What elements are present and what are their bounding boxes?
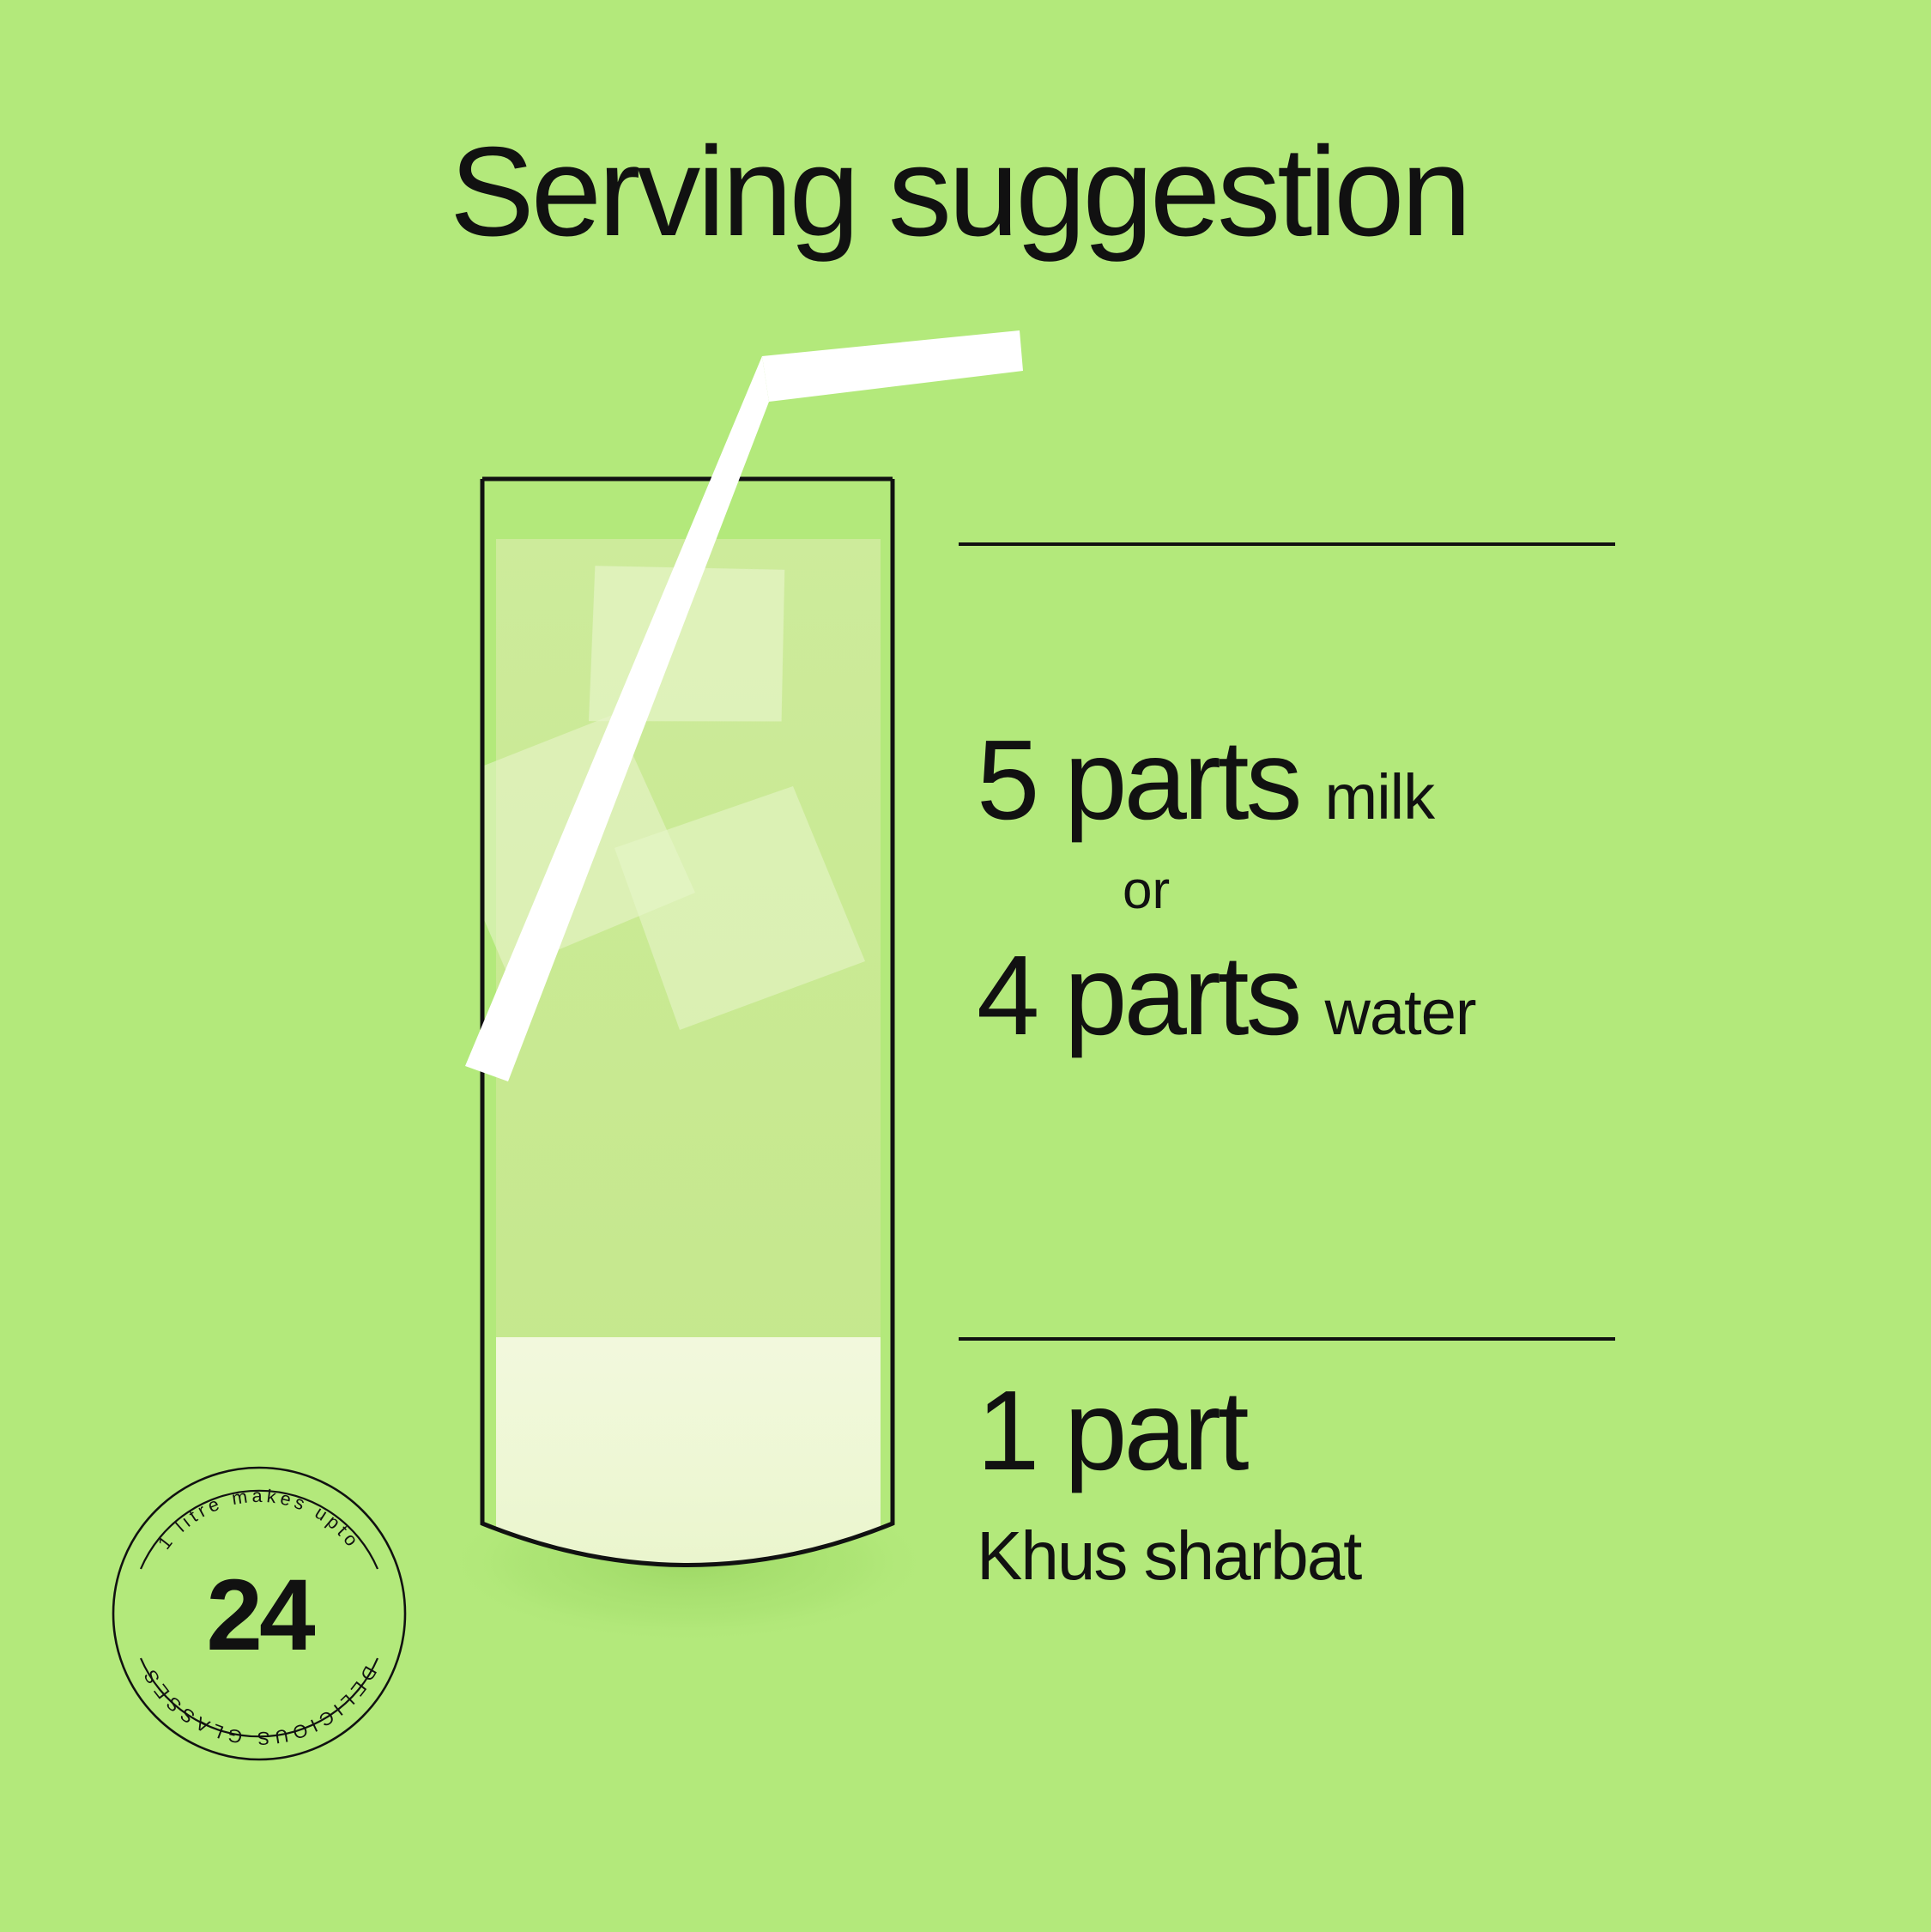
ratio-ingredient-sharbat: Khus sharbat: [977, 1515, 1818, 1597]
ratio-amount-milk: 5 parts: [977, 721, 1299, 840]
ratio-amount-water: 4 parts: [977, 936, 1299, 1056]
badge-top-arc-text: 1 litre makes upto: [154, 1486, 364, 1553]
badge-value: 24: [206, 1559, 315, 1672]
ratio-line-milk: 5 parts milk: [977, 721, 1818, 840]
ratio-ingredient-milk: milk: [1325, 764, 1435, 831]
glass-illustration: [412, 326, 996, 1614]
straw-upper-segment: [762, 330, 1023, 402]
ratio-block-upper: 5 parts milk or 4 parts water: [977, 721, 1818, 1055]
divider-top: [959, 542, 1615, 546]
ratio-ingredient-water: water: [1325, 979, 1476, 1046]
ratio-line-water: 4 parts water: [977, 936, 1818, 1056]
glasses-yield-badge: 1 litre makes upto DELICIOUS GLASSES 24: [110, 1464, 409, 1763]
ratio-conjunction: or: [1123, 864, 1818, 918]
divider-bottom: [959, 1337, 1615, 1341]
page-title: Serving suggestion: [450, 129, 1468, 256]
badge-bottom-arc-text: DELICIOUS GLASSES: [138, 1662, 381, 1748]
serving-suggestion-poster: Serving suggestion: [0, 0, 1931, 1932]
ratio-block-lower: 1 part Khus sharbat: [977, 1370, 1818, 1597]
ratio-amount-sharbat: 1 part: [977, 1370, 1818, 1493]
